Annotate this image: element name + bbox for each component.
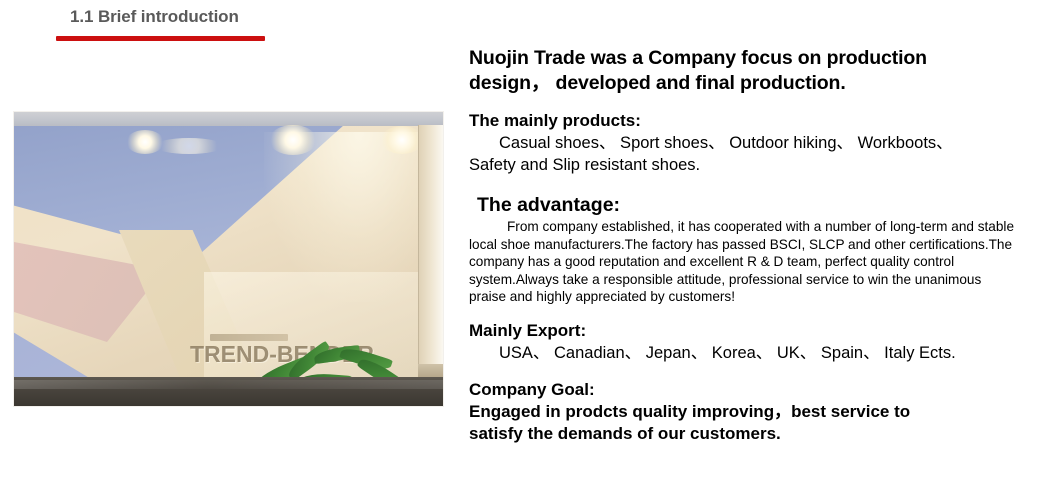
export-heading: Mainly Export: xyxy=(469,320,1014,342)
lead-title-line-2: design， developed and final production. xyxy=(469,72,846,94)
lead-title: Nuojin Trade was a Company focus on prod… xyxy=(469,46,1014,96)
photo-light-glow xyxy=(264,132,443,302)
products-list: Casual shoes、 Sport shoes、 Outdoor hikin… xyxy=(469,132,1014,176)
products-line-2: Safety and Slip resistant shoes. xyxy=(469,154,700,176)
lead-title-line-1: Nuojin Trade was a Company focus on prod… xyxy=(469,47,927,69)
goal-line-2: satisfy the demands of our customers. xyxy=(469,424,781,443)
advantage-paragraph: From company established, it has coopera… xyxy=(469,218,1014,306)
products-heading: The mainly products: xyxy=(469,110,1014,132)
goal-heading: Company Goal: xyxy=(469,379,1014,401)
goal-statement: Engaged in prodcts quality improving，bes… xyxy=(469,401,1014,445)
photo-wall-corner-line xyxy=(418,125,419,377)
photo-ceiling xyxy=(14,112,443,126)
heading-underline-rule xyxy=(56,36,265,41)
introduction-content: Nuojin Trade was a Company focus on prod… xyxy=(469,46,1014,445)
ceiling-spotlight-icon xyxy=(154,138,224,154)
export-countries: USA、 Canadian、 Jepan、 Korea、 UK、 Spain、 … xyxy=(469,342,1014,364)
wall-sign-accent-bar xyxy=(210,334,288,341)
page-title: 1.1 Brief introduction xyxy=(56,4,456,30)
products-line-1: Casual shoes、 Sport shoes、 Outdoor hikin… xyxy=(499,134,953,152)
photo-right-wall xyxy=(418,125,443,377)
section-heading: 1.1 Brief introduction xyxy=(56,4,456,41)
company-showroom-photo: TREND-BENDER xyxy=(14,112,443,406)
goal-line-1: Engaged in prodcts quality improving，bes… xyxy=(469,402,910,421)
photo-floor-reflection xyxy=(14,380,443,389)
ceiling-spotlight-icon xyxy=(269,125,317,155)
advantage-heading: The advantage: xyxy=(469,192,1014,218)
photo-baseboard xyxy=(418,364,443,377)
